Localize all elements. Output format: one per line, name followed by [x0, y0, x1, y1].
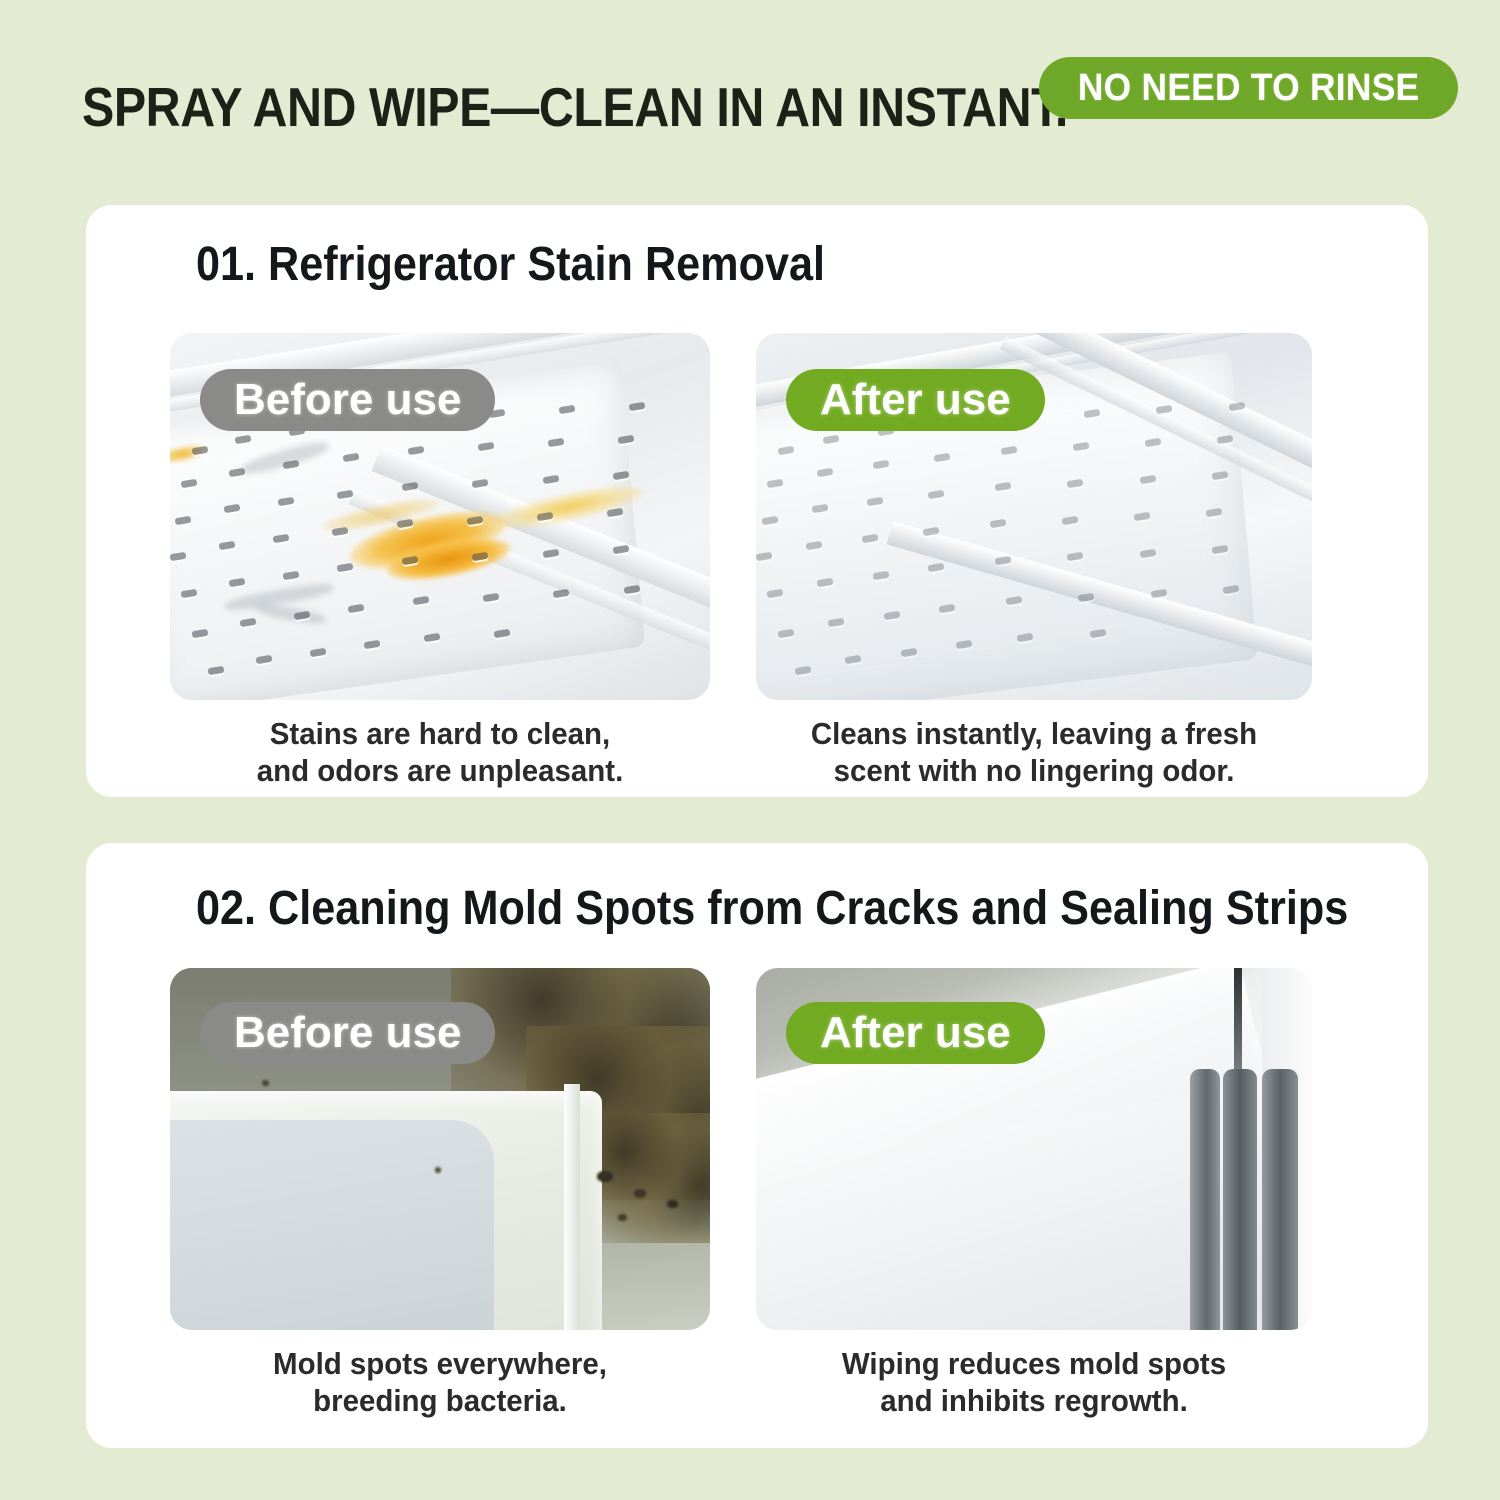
perforation-dot — [756, 552, 772, 561]
seal-gap — [1234, 968, 1242, 1084]
perforation-dot — [806, 541, 823, 550]
after-use-badge: After use — [786, 369, 1045, 431]
perforation-dot — [900, 647, 917, 656]
before-panel: Before use Stains are hard to clean, and… — [170, 333, 710, 700]
perforation-dot — [1206, 508, 1223, 517]
perforation-dot — [229, 468, 246, 477]
mold-spot — [597, 1171, 613, 1182]
perforation-dot — [548, 438, 565, 447]
after-panel: After use Cleans instantly, leaving a fr… — [756, 333, 1312, 700]
perforation-dot — [1067, 479, 1084, 488]
sealing-strip — [1262, 1069, 1298, 1330]
section-title: 02. Cleaning Mold Spots from Cracks and … — [196, 885, 1348, 933]
mold-spot — [262, 1080, 269, 1086]
perforation-dot — [310, 647, 327, 656]
perforation-dot — [558, 405, 575, 414]
perforation-dot — [1067, 552, 1084, 561]
perforation-dot — [423, 633, 440, 642]
perforation-dot — [761, 515, 778, 524]
perforation-dot — [1228, 402, 1245, 411]
perforation-dot — [1072, 442, 1089, 451]
caption-line: and inhibits regrowth. — [770, 1383, 1298, 1420]
perforation-dot — [224, 504, 241, 513]
perforation-dot — [191, 629, 208, 638]
perforation-dot — [867, 497, 884, 506]
perforation-dot — [989, 519, 1006, 528]
door-inner-panel — [170, 1120, 494, 1330]
after-use-label: After use — [820, 378, 1011, 422]
perforation-dot — [1078, 592, 1095, 601]
perforation-dot — [1134, 512, 1151, 521]
perforation-dot — [811, 504, 828, 513]
before-use-badge: Before use — [200, 1002, 495, 1064]
perforation-dot — [175, 515, 192, 524]
perforation-dot — [612, 545, 629, 554]
perforation-dot — [332, 526, 349, 535]
before-use-badge: Before use — [200, 369, 495, 431]
before-use-label: Before use — [234, 378, 461, 422]
perforation-dot — [845, 655, 862, 664]
perforation-dot — [922, 526, 939, 535]
perforation-dot — [180, 479, 197, 488]
perforation-dot — [294, 611, 311, 620]
mold-spot — [634, 1189, 646, 1198]
caption-line: scent with no lingering odor. — [770, 753, 1298, 790]
perforation-dot — [342, 453, 359, 462]
caption-line: Mold spots everywhere, — [184, 1346, 697, 1383]
perforation-dot — [1084, 409, 1101, 418]
perforation-dot — [542, 548, 559, 557]
perforation-dot — [767, 589, 784, 598]
perforation-dot — [1000, 446, 1017, 455]
perforation-dot — [872, 460, 889, 469]
page-header: SPRAY AND WIPE—CLEAN IN AN INSTANT. NO N… — [0, 0, 1500, 180]
perforation-dot — [170, 552, 186, 561]
caption-line: Cleans instantly, leaving a fresh — [770, 716, 1298, 753]
before-caption: Stains are hard to clean, and odors are … — [184, 716, 697, 789]
before-photo-mold-corner: Before use — [170, 968, 710, 1330]
perforation-dot — [348, 603, 365, 612]
perforation-dot — [1211, 471, 1228, 480]
perforation-dot — [828, 618, 845, 627]
after-caption: Cleans instantly, leaving a fresh scent … — [770, 716, 1298, 789]
sealing-strip — [1190, 1069, 1220, 1330]
perforation-dot — [1061, 515, 1078, 524]
perforation-dot — [272, 534, 289, 543]
after-photo-clean-seals: After use — [756, 968, 1312, 1330]
perforation-dot — [542, 475, 559, 484]
perforation-dot — [218, 541, 235, 550]
perforation-dot — [872, 570, 889, 579]
perforation-dot — [396, 519, 413, 528]
perforation-dot — [1139, 475, 1156, 484]
perforation-dot — [283, 460, 300, 469]
perforation-dot — [477, 442, 494, 451]
perforation-dot — [794, 666, 811, 675]
perforation-dot — [278, 497, 295, 506]
perforation-dot — [1006, 596, 1023, 605]
perforation-dot — [1139, 548, 1156, 557]
perforation-dot — [207, 666, 224, 675]
section-card-refrigerator-stain-removal: 01. Refrigerator Stain Removal — [86, 205, 1428, 797]
perforation-dot — [1217, 435, 1234, 444]
perforation-dot — [472, 479, 489, 488]
perforation-dot — [928, 490, 945, 499]
perforation-dot — [1145, 438, 1162, 447]
page-title: SPRAY AND WIPE—CLEAN IN AN INSTANT. — [82, 80, 1068, 135]
perforation-dot — [939, 603, 956, 612]
comparison-panels: Before use Stains are hard to clean, and… — [170, 333, 1312, 700]
perforation-dot — [256, 655, 273, 664]
perforation-dot — [778, 446, 795, 455]
after-use-label: After use — [820, 1011, 1011, 1055]
after-photo-clean-shelf: After use — [756, 333, 1312, 700]
mold-spot — [667, 1200, 678, 1208]
perforation-dot — [537, 512, 554, 521]
before-panel: Before use Mold spots everywhere, breedi… — [170, 968, 710, 1330]
perforation-dot — [240, 618, 257, 627]
perforation-dot — [402, 482, 419, 491]
perforation-dot — [1156, 405, 1173, 414]
perforation-dot — [1211, 545, 1228, 554]
perforation-dot — [234, 435, 251, 444]
after-panel: After use Wiping reduces mold spots and … — [756, 968, 1312, 1330]
caption-line: and odors are unpleasant. — [184, 753, 697, 790]
perforation-dot — [629, 402, 646, 411]
caption-line: Wiping reduces mold spots — [770, 1346, 1298, 1383]
perforation-dot — [778, 629, 795, 638]
before-use-label: Before use — [234, 1011, 461, 1055]
perforation-dot — [1089, 629, 1106, 638]
mold-spot — [435, 1167, 441, 1173]
perforation-dot — [283, 570, 300, 579]
perforation-dot — [494, 629, 511, 638]
no-rinse-badge: NO NEED TO RINSE — [1039, 57, 1458, 119]
perforation-dot — [229, 578, 246, 587]
perforation-dot — [817, 468, 834, 477]
perforation-dot — [861, 534, 878, 543]
perforation-dot — [1223, 585, 1240, 594]
before-photo-dirty-shelf: Before use — [170, 333, 710, 700]
caption-line: breeding bacteria. — [184, 1383, 697, 1420]
perforation-dot — [337, 563, 354, 572]
perforation-dot — [767, 479, 784, 488]
perforation-dot — [817, 578, 834, 587]
no-rinse-badge-label: NO NEED TO RINSE — [1078, 69, 1420, 107]
perforation-dot — [191, 446, 208, 455]
perforation-dot — [607, 508, 624, 517]
caption-line: Stains are hard to clean, — [184, 716, 697, 753]
perforation-dot — [883, 611, 900, 620]
perforation-dot — [956, 640, 973, 649]
comparison-panels: Before use Mold spots everywhere, breedi… — [170, 968, 1312, 1330]
sealing-strip — [1223, 1069, 1257, 1330]
perforation-dot — [467, 515, 484, 524]
perforation-dot — [364, 640, 381, 649]
perforation-dot — [1150, 589, 1167, 598]
after-caption: Wiping reduces mold spots and inhibits r… — [770, 1346, 1298, 1419]
perforation-dot — [822, 435, 839, 444]
after-use-badge: After use — [786, 1002, 1045, 1064]
perforation-dot — [995, 556, 1012, 565]
perforation-dot — [1017, 633, 1034, 642]
perforation-dot — [483, 592, 500, 601]
perforation-dot — [407, 446, 424, 455]
perforation-dot — [337, 490, 354, 499]
perforation-dot — [612, 471, 629, 480]
perforation-dot — [180, 589, 197, 598]
section-title: 01. Refrigerator Stain Removal — [196, 241, 825, 289]
perforation-dot — [413, 596, 430, 605]
perforation-dot — [933, 453, 950, 462]
perforation-dot — [618, 435, 635, 444]
perforation-dot — [928, 563, 945, 572]
perforation-dot — [402, 556, 419, 565]
perforation-dot — [553, 589, 570, 598]
perforation-dot — [472, 552, 489, 561]
section-card-mold-spot-cleaning: 02. Cleaning Mold Spots from Cracks and … — [86, 843, 1428, 1448]
door-edge — [564, 1084, 580, 1330]
before-caption: Mold spots everywhere, breeding bacteria… — [184, 1346, 697, 1419]
perforation-dot — [623, 585, 640, 594]
perforation-dot — [995, 482, 1012, 491]
